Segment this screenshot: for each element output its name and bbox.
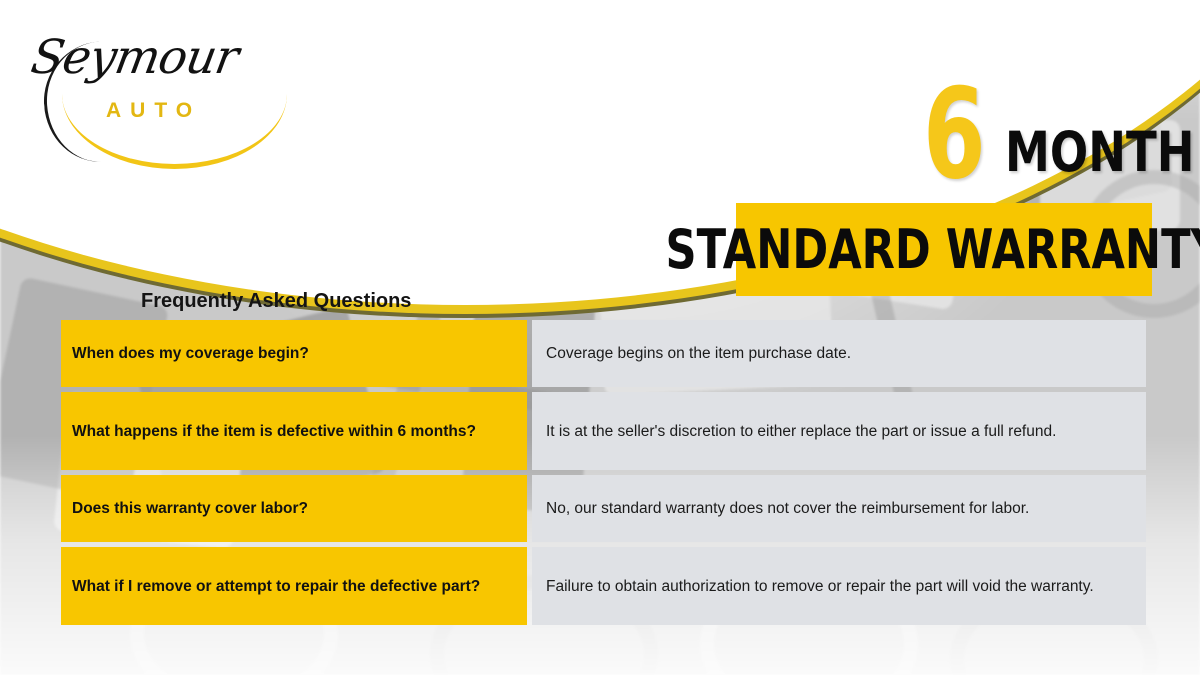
table-row: When does my coverage begin? Coverage be… bbox=[61, 320, 1146, 387]
faq-answer-text: Failure to obtain authorization to remov… bbox=[546, 576, 1134, 597]
faq-question: What if I remove or attempt to repair th… bbox=[61, 547, 527, 625]
faq-answer: Coverage begins on the item purchase dat… bbox=[532, 320, 1146, 387]
faq-table: When does my coverage begin? Coverage be… bbox=[61, 320, 1146, 630]
faq-answer: No, our standard warranty does not cover… bbox=[532, 475, 1146, 542]
faq-answer-text: It is at the seller's discretion to eith… bbox=[546, 421, 1134, 442]
logo-subword: AUTO bbox=[106, 99, 201, 123]
faq-answer-text: Coverage begins on the item purchase dat… bbox=[546, 343, 1134, 364]
faq-answer-text: No, our standard warranty does not cover… bbox=[546, 498, 1134, 519]
faq-title: Frequently Asked Questions bbox=[141, 290, 411, 313]
faq-question: Does this warranty cover labor? bbox=[61, 475, 527, 542]
seymour-auto-logo: Seymour AUTO bbox=[24, 22, 274, 137]
table-row: What happens if the item is defective wi… bbox=[61, 392, 1146, 470]
faq-question: What happens if the item is defective wi… bbox=[61, 392, 527, 470]
table-row: What if I remove or attempt to repair th… bbox=[61, 547, 1146, 625]
faq-question: When does my coverage begin? bbox=[61, 320, 527, 387]
table-row: Does this warranty cover labor? No, our … bbox=[61, 475, 1146, 542]
faq-answer: Failure to obtain authorization to remov… bbox=[532, 547, 1146, 625]
warranty-slide: Seymour AUTO 6 MONTH STANDARD WARRANTY F… bbox=[0, 0, 1200, 675]
logo-wordmark: Seymour bbox=[27, 30, 242, 85]
duration-unit: MONTH bbox=[1005, 125, 1194, 180]
duration-number: 6 bbox=[923, 72, 986, 197]
standard-warranty-label: STANDARD WARRANTY bbox=[666, 223, 1200, 277]
faq-answer: It is at the seller's discretion to eith… bbox=[532, 392, 1146, 470]
standard-warranty-banner: STANDARD WARRANTY bbox=[736, 203, 1152, 296]
